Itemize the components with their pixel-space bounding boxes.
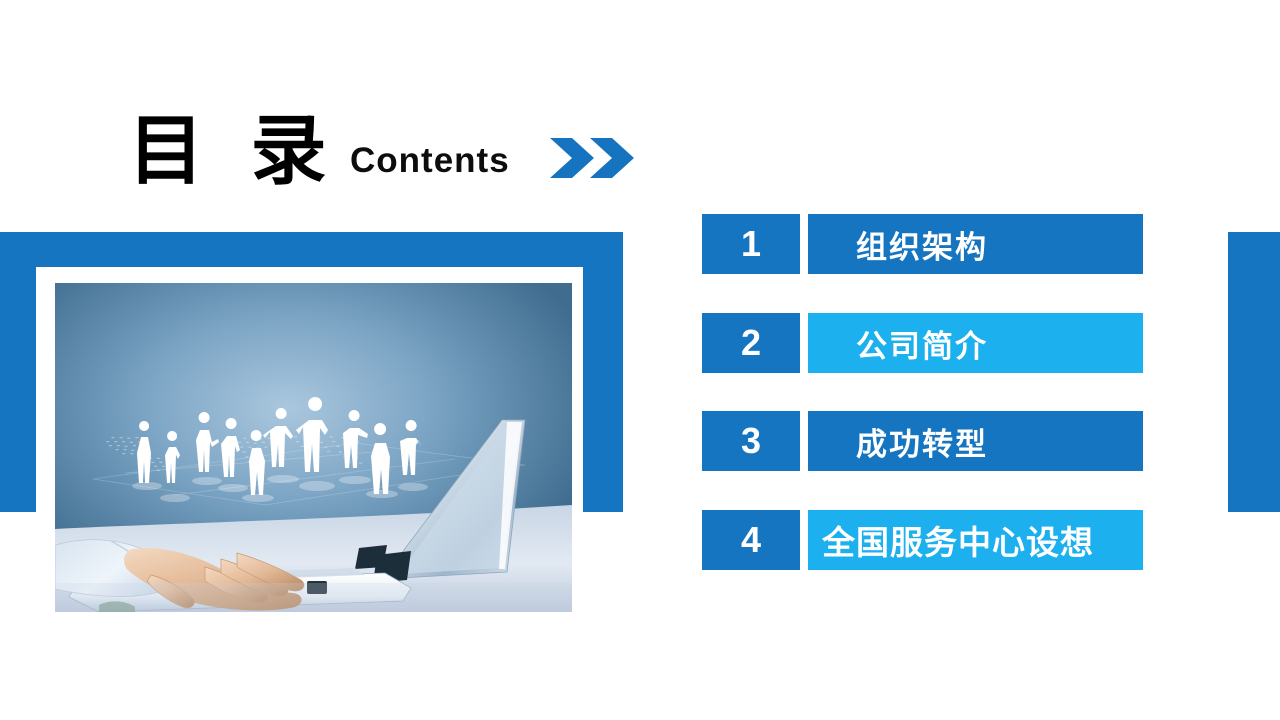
contents-item-3-number: 3: [702, 411, 800, 471]
page-subtitle: Contents: [350, 141, 510, 181]
contents-item-4-number: 4: [702, 510, 800, 570]
contents-item-1-label: 组织架构: [808, 214, 1143, 274]
contents-item-4-label: 全国服务中心设想: [808, 510, 1143, 570]
contents-item-2-label: 公司简介: [808, 313, 1143, 373]
laptop-hologram-photo: [55, 283, 572, 612]
presentation-slide: 目 录 Contents: [0, 0, 1280, 720]
contents-item-2[interactable]: 2 公司简介: [702, 313, 1143, 373]
photo-frame-right-bar: [583, 232, 623, 512]
contents-item-3[interactable]: 3 成功转型: [702, 411, 1143, 471]
photo-frame-inner-gap: [36, 267, 583, 283]
contents-list: 1 组织架构 2 公司简介 3 成功转型 4 全国服务中心设想: [702, 214, 1143, 574]
contents-item-4[interactable]: 4 全国服务中心设想: [702, 510, 1143, 570]
slide-title-group: 目 录 Contents: [128, 105, 648, 200]
page-title: 目 录: [128, 105, 336, 197]
contents-item-2-number: 2: [702, 313, 800, 373]
double-chevron-right-icon: [548, 135, 648, 181]
contents-item-1[interactable]: 1 组织架构: [702, 214, 1143, 274]
photo-frame-top-bar: [0, 232, 623, 267]
contents-item-3-label: 成功转型: [808, 411, 1143, 471]
contents-item-1-number: 1: [702, 214, 800, 274]
photo-frame-left-bar: [0, 232, 36, 512]
slide-right-accent-bar: [1228, 232, 1280, 512]
